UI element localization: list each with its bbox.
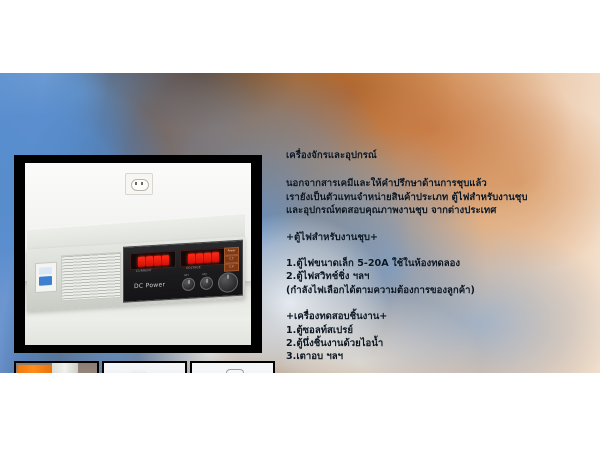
thumbnail-image bbox=[16, 363, 97, 373]
led-digit bbox=[204, 252, 211, 262]
voltage-led-display bbox=[180, 248, 226, 268]
thumbnail-image bbox=[192, 363, 273, 373]
voltage-display-label: VOLTAGE bbox=[186, 265, 201, 270]
banner-heading: เครื่องจักรและอุปกรณ์ bbox=[286, 149, 596, 162]
section2-item-2: 2.ตู้นึ่งชิ้นงานด้วยไอน้ำ bbox=[286, 337, 596, 350]
current-led-display bbox=[130, 251, 176, 271]
section2-item-1: 1.ตู้ซอลท์สเปรย์ bbox=[286, 324, 596, 337]
section1-item-1: 1.ตู้ไฟขนาดเล็ก 5-20A ใช้ในห้องทดลอง bbox=[286, 257, 596, 270]
current-display-label: CURRENT bbox=[136, 268, 152, 273]
section-title-power-cabinets: +ตู้ไฟสำหรับงานชุบ+ bbox=[286, 231, 596, 244]
thumbnail-orange-grey-rectifier-cabinet[interactable] bbox=[14, 361, 99, 373]
spacer bbox=[286, 364, 596, 373]
led-digit bbox=[138, 256, 145, 266]
thumbnail-salt-spray-test-chamber[interactable] bbox=[102, 361, 187, 373]
promotional-banner: CURRENT VOLTAGE Power C.C C.V bbox=[0, 73, 600, 373]
socket-hole-left bbox=[135, 182, 137, 185]
led-digit bbox=[196, 253, 203, 263]
image-column: CURRENT VOLTAGE Power C.C C.V bbox=[14, 155, 272, 373]
adjust-knob-small-left bbox=[182, 277, 195, 291]
led-digit bbox=[212, 252, 219, 262]
thumbnail-hot-air-drying-oven[interactable] bbox=[190, 361, 275, 373]
knob-indicator-mark bbox=[228, 275, 229, 279]
dc-power-supply-photo: CURRENT VOLTAGE Power C.C C.V bbox=[25, 163, 251, 345]
main-product-photo-frame: CURRENT VOLTAGE Power C.C C.V bbox=[14, 155, 262, 353]
main-rotary-knob bbox=[218, 272, 238, 293]
thumbnail-row bbox=[14, 361, 278, 373]
panel-brand-label: DC Power bbox=[134, 281, 165, 290]
instrument-panel: CURRENT VOLTAGE Power C.C C.V bbox=[123, 240, 243, 303]
socket-hole-right bbox=[141, 182, 143, 185]
circuit-breaker-switch bbox=[35, 262, 57, 293]
spacer bbox=[286, 164, 596, 177]
led-digit bbox=[188, 253, 195, 263]
led-digit bbox=[146, 256, 153, 266]
spacer bbox=[286, 297, 596, 310]
banner-text-column: เครื่องจักรและอุปกรณ์ นอกจากสารเคมีและให… bbox=[286, 149, 596, 373]
section1-item-2: 2.ตู้ไฟสวิทช์ชิ่ง ฯลฯ bbox=[286, 270, 596, 283]
wall-socket-icon bbox=[125, 173, 153, 195]
knob-label-adj: ADJ bbox=[202, 273, 207, 276]
chamber-lid bbox=[118, 369, 160, 373]
oven-lid-handle bbox=[226, 369, 244, 373]
section2-item-3: 3.เตาอบ ฯลฯ bbox=[286, 350, 596, 363]
spacer bbox=[286, 244, 596, 257]
led-digit bbox=[154, 255, 161, 265]
intro-line-3: และอุปกรณ์ทดสอบคุณภาพงานชุบ จากต่างประเท… bbox=[286, 204, 596, 217]
intro-line-2: เรายังเป็นตัวแทนจำหน่ายสินค้าประเภท ตู้ไ… bbox=[286, 191, 596, 204]
ventilation-grille bbox=[61, 252, 121, 302]
power-supply-front-panel: CURRENT VOLTAGE Power C.C C.V bbox=[27, 237, 245, 312]
section1-note: (กำลังไฟเลือกได้ตามความต้องการของลูกค้า) bbox=[286, 284, 596, 297]
page-root: CURRENT VOLTAGE Power C.C C.V bbox=[0, 0, 600, 450]
grey-cabinet-panel bbox=[52, 363, 78, 373]
orange-cabinet-panel bbox=[18, 365, 52, 373]
adjust-knob-small-right bbox=[200, 276, 213, 290]
knob-indicator-mark bbox=[188, 280, 189, 284]
section-title-testing-equipment: +เครื่องทดสอบชิ้นงาน+ bbox=[286, 310, 596, 323]
constant-voltage-indicator-lamp: C.V bbox=[224, 263, 239, 272]
led-digit bbox=[162, 255, 169, 265]
thumbnail-image bbox=[104, 363, 185, 373]
spacer bbox=[286, 218, 596, 231]
knob-indicator-mark bbox=[206, 279, 207, 283]
intro-line-1: นอกจากสารเคมีและให้คำปรึกษาด้านการชุบแล้… bbox=[286, 177, 596, 190]
knob-label-set: SET bbox=[184, 274, 189, 277]
